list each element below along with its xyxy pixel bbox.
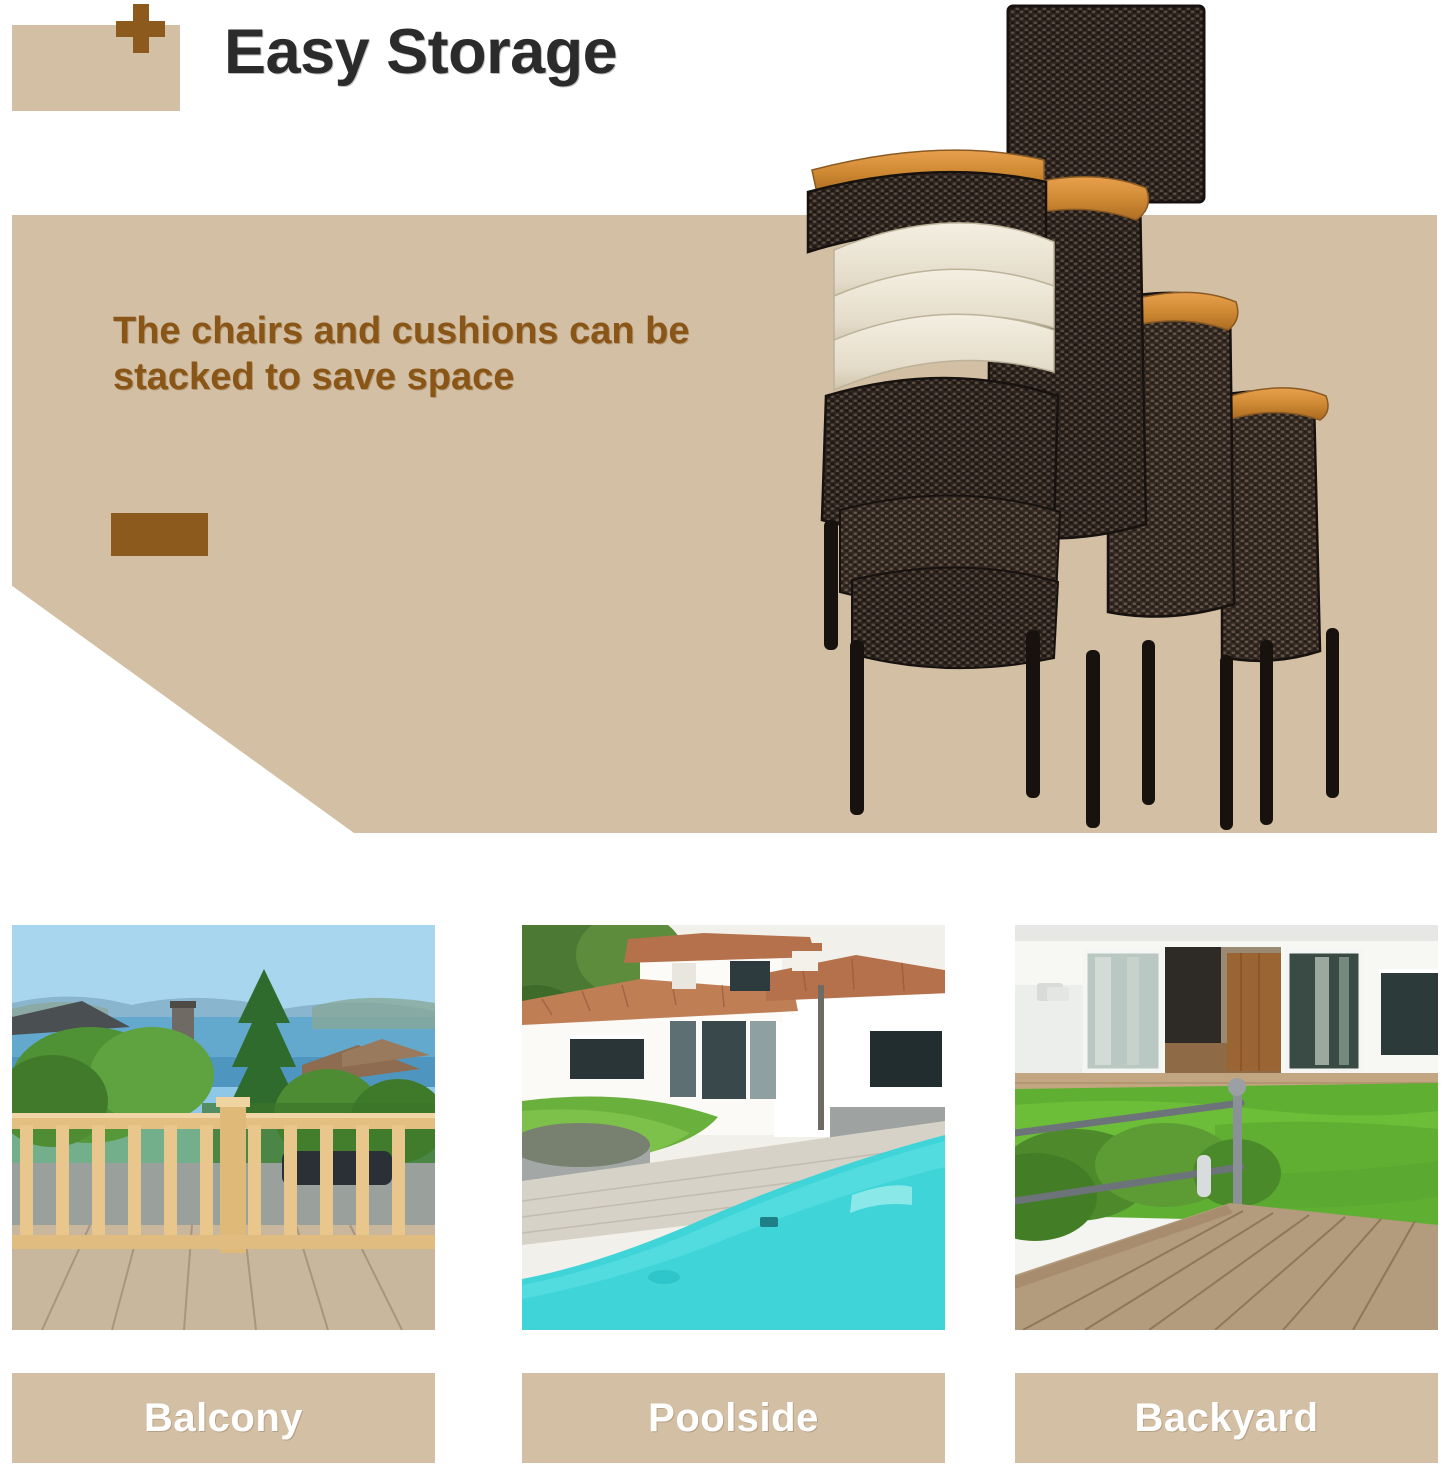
- plus-icon: [116, 4, 165, 53]
- use-case-label: Balcony: [144, 1396, 303, 1441]
- feature-description: The chairs and cushions can be stacked t…: [113, 308, 773, 400]
- plus-icon-vertical-bar: [133, 4, 149, 53]
- stacked-chairs-image: [790, 0, 1390, 830]
- use-case-card-balcony[interactable]: Balcony: [12, 925, 435, 1463]
- use-case-label: Poolside: [648, 1396, 819, 1441]
- backyard-photo: [1015, 925, 1438, 1330]
- card-caption-poolside: Poolside: [522, 1373, 945, 1463]
- use-case-card-poolside[interactable]: Poolside: [522, 925, 945, 1463]
- poolside-photo: [522, 925, 945, 1330]
- card-caption-backyard: Backyard: [1015, 1373, 1438, 1463]
- product-feature-page: Easy Storage The chairs and cushions can…: [0, 0, 1445, 1468]
- card-caption-balcony: Balcony: [12, 1373, 435, 1463]
- use-case-card-backyard[interactable]: Backyard: [1015, 925, 1438, 1463]
- page-title: Easy Storage: [224, 16, 617, 88]
- balcony-photo: [12, 925, 435, 1330]
- use-case-cards: Balcony: [0, 925, 1445, 1465]
- use-case-label: Backyard: [1134, 1396, 1318, 1441]
- accent-bar: [111, 513, 208, 556]
